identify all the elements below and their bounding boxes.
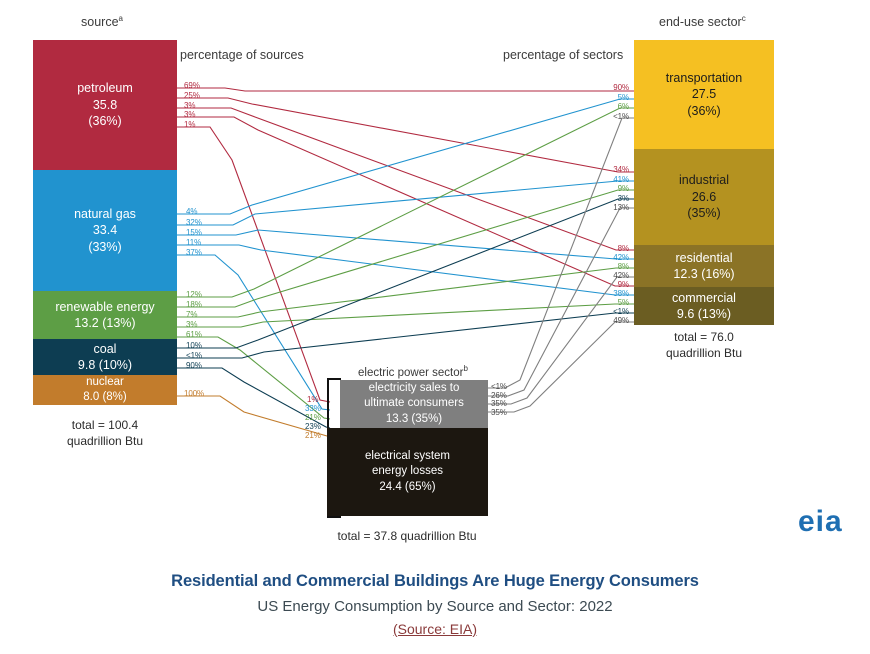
pct-sector-transportation-0: 90% [597, 84, 629, 92]
sector-node-industrial[interactable]: industrial 26.6 (35%) [634, 149, 774, 245]
pct-sector-industrial-4: 13% [597, 204, 629, 212]
pct-sector-industrial-3: 3% [597, 195, 629, 203]
header-end-use-label: end-use sector [659, 15, 742, 29]
pct-source-renewable-1: 18% [186, 301, 202, 309]
sector-node-commercial-label: commercial 9.6 (13%) [672, 290, 736, 323]
pct-source-petroleum-0: 69% [184, 82, 200, 90]
sectors-total-caption: total = 76.0 quadrillion Btu [634, 330, 774, 362]
pct-sector-transportation-2: 6% [597, 103, 629, 111]
pct-electric-output-2: 35% [491, 400, 507, 408]
caption-source-link[interactable]: (Source: EIA) [0, 621, 870, 637]
pct-sector-residential-3: 42% [597, 272, 629, 280]
pct-sector-residential-2: 8% [597, 263, 629, 271]
pct-sector-commercial-1: 38% [597, 290, 629, 298]
header-percentage-of-sources: percentage of sources [180, 48, 304, 62]
eia-logo-text: eia [798, 505, 843, 538]
header-end-use-sector: end-use sectorc [659, 14, 746, 29]
electric-total-caption: total = 37.8 quadrillion Btu [307, 529, 507, 545]
pct-sector-residential-1: 42% [597, 254, 629, 262]
pct-sector-residential-0: 8% [597, 245, 629, 253]
pct-sector-industrial-2: 9% [597, 185, 629, 193]
pct-sector-commercial-2: 5% [597, 299, 629, 307]
electric-power-node-electricity-sales[interactable]: electricity sales to ultimate consumers … [340, 380, 488, 428]
pct-source-renewable-2: 7% [186, 311, 197, 319]
header-source: sourcea [81, 14, 123, 29]
header-end-use-footnote: c [742, 14, 746, 23]
pct-electric-input-4: 21% [305, 432, 321, 440]
system-losses-value: 24.4 (65%) [379, 480, 435, 495]
electric-power-node-system-losses[interactable]: electrical system energy losses 24.4 (65… [327, 428, 488, 516]
pct-sector-industrial-1: 41% [597, 176, 629, 184]
source-node-petroleum-label: petroleum 35.8 (36%) [77, 80, 133, 130]
pct-electric-input-2: 21% [305, 414, 321, 422]
header-source-label: source [81, 15, 119, 29]
pct-electric-input-0: 1% [307, 396, 318, 404]
pct-source-natural-gas-2: 15% [186, 229, 202, 237]
pct-sector-industrial-0: 34% [597, 166, 629, 174]
electricity-sales-label: electricity sales to ultimate consumers [364, 381, 464, 411]
sources-total-caption: total = 100.4 quadrillion Btu [33, 418, 177, 450]
header-electric-power-label: electric power sector [358, 367, 463, 379]
source-node-petroleum[interactable]: petroleum 35.8 (36%) [33, 40, 177, 170]
pct-electric-output-3: 35% [491, 409, 507, 417]
source-node-renewable-energy-label: renewable energy 13.2 (13%) [55, 299, 154, 332]
electricity-sales-value: 13.3 (35%) [386, 412, 442, 427]
pct-source-natural-gas-3: 11% [186, 239, 201, 247]
source-node-coal-label: coal 9.8 (10%) [78, 341, 132, 374]
pct-source-renewable-3: 3% [186, 321, 197, 329]
source-node-natural-gas-label: natural gas 33.4 (33%) [74, 206, 136, 256]
header-electric-power-footnote: b [463, 364, 467, 373]
pct-sector-commercial-3: <1% [597, 308, 629, 316]
pct-electric-output-0: <1% [491, 383, 507, 391]
sector-node-residential-label: residential 12.3 (16%) [673, 250, 734, 283]
sector-node-transportation[interactable]: transportation 27.5 (36%) [634, 40, 774, 149]
pct-source-natural-gas-4: 37% [186, 249, 202, 257]
source-node-natural-gas[interactable]: natural gas 33.4 (33%) [33, 170, 177, 291]
pct-source-natural-gas-1: 32% [186, 219, 202, 227]
caption-block: Residential and Commercial Buildings Are… [0, 572, 870, 637]
caption-source-link-text: (Source: EIA) [393, 621, 477, 637]
pct-source-renewable-4: 61% [186, 331, 202, 339]
pct-sector-transportation-1: 5% [597, 94, 629, 102]
pct-sector-commercial-4: 49% [597, 317, 629, 325]
sector-node-commercial[interactable]: commercial 9.6 (13%) [634, 287, 774, 325]
pct-source-coal-2: 90% [186, 362, 202, 370]
header-source-footnote: a [119, 14, 123, 23]
pct-sector-commercial-0: 9% [597, 281, 629, 289]
source-node-coal[interactable]: coal 9.8 (10%) [33, 339, 177, 375]
pct-electric-input-1: 33% [305, 405, 321, 413]
pct-source-petroleum-4: 1% [184, 121, 195, 129]
pct-source-coal-1: <1% [186, 352, 202, 360]
sector-node-industrial-label: industrial 26.6 (35%) [679, 172, 729, 222]
pct-source-renewable-0: 12% [186, 291, 202, 299]
source-node-nuclear[interactable]: nuclear 8.0 (8%) [33, 375, 177, 405]
header-percentage-of-sectors: percentage of sectors [503, 48, 623, 62]
sector-node-transportation-label: transportation 27.5 (36%) [666, 70, 742, 120]
pct-electric-input-3: 23% [305, 423, 321, 431]
pct-source-petroleum-3: 3% [184, 111, 195, 119]
pct-source-petroleum-2: 3% [184, 102, 195, 110]
source-node-renewable-energy[interactable]: renewable energy 13.2 (13%) [33, 291, 177, 339]
pct-source-natural-gas-0: 4% [186, 208, 197, 216]
pct-source-nuclear-0: 100% [184, 390, 204, 398]
eia-logo: eia [798, 505, 843, 539]
header-electric-power-sector: electric power sectorb [358, 364, 468, 379]
caption-subtitle: US Energy Consumption by Source and Sect… [0, 598, 870, 615]
source-node-nuclear-label: nuclear 8.0 (8%) [83, 375, 126, 405]
pct-source-petroleum-1: 25% [184, 92, 200, 100]
caption-title: Residential and Commercial Buildings Are… [0, 572, 870, 591]
pct-source-coal-0: 10% [186, 342, 202, 350]
system-losses-label: electrical system energy losses [365, 449, 450, 479]
pct-sector-transportation-3: <1% [597, 113, 629, 121]
sector-node-residential[interactable]: residential 12.3 (16%) [634, 245, 774, 287]
